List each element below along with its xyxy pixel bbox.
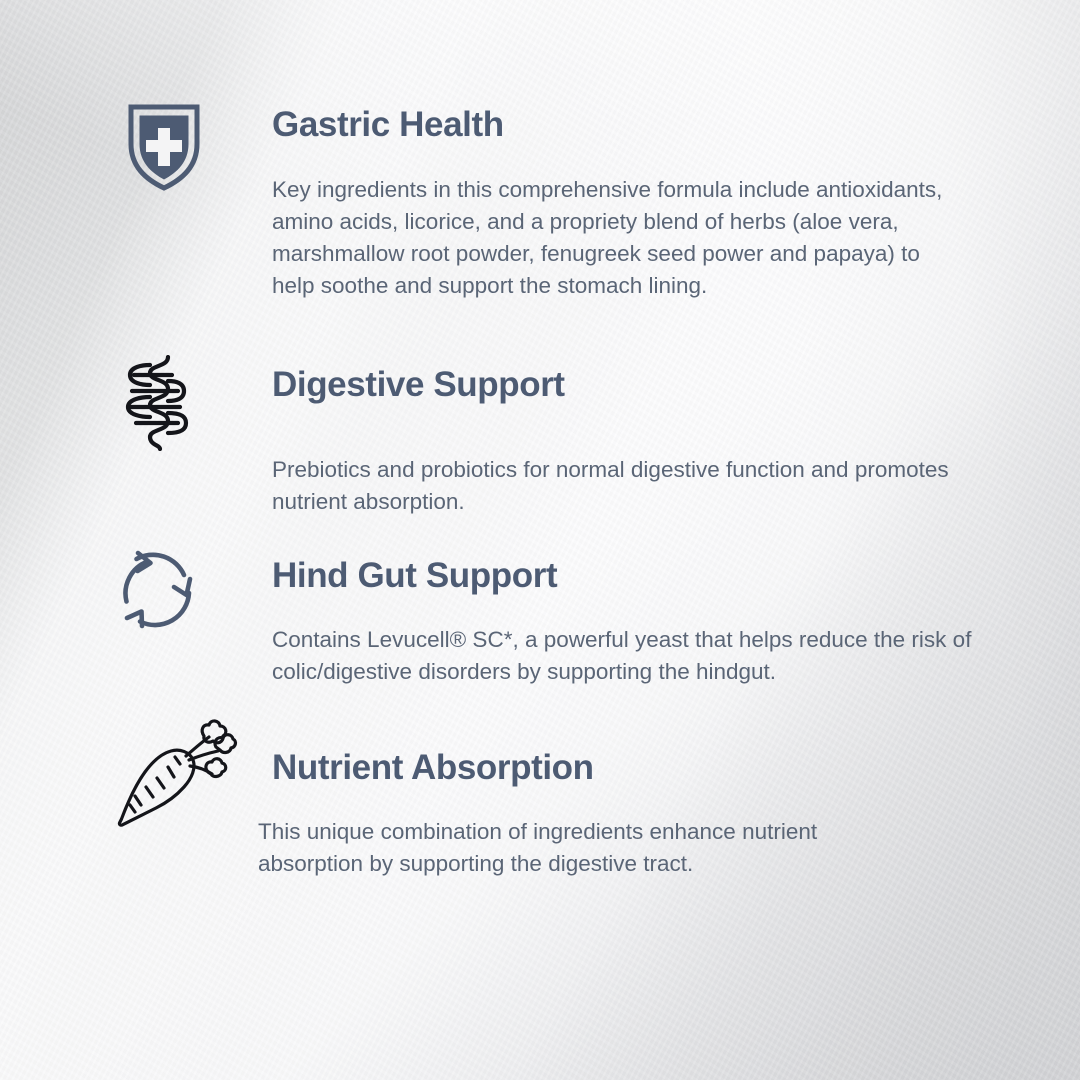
feature-body: This unique combination of ingredients e…	[258, 816, 908, 880]
recycle-arrows-icon	[114, 547, 202, 635]
feature-list-page: Gastric Health Key ingredients in this c…	[0, 0, 1080, 1080]
intestine-icon	[120, 355, 192, 451]
feature-body: Key ingredients in this comprehensive fo…	[272, 174, 952, 302]
feature-title: Digestive Support	[272, 367, 565, 402]
feature-body: Contains Levucell® SC*, a powerful yeast…	[272, 624, 972, 688]
feature-list: Gastric Health Key ingredients in this c…	[0, 0, 1080, 1080]
shield-cross-icon	[126, 100, 202, 192]
feature-body: Prebiotics and probiotics for normal dig…	[272, 454, 952, 518]
feature-title: Gastric Health	[272, 107, 504, 142]
feature-title: Nutrient Absorption	[272, 750, 594, 785]
feature-title: Hind Gut Support	[272, 558, 557, 593]
carrot-icon	[108, 716, 238, 834]
